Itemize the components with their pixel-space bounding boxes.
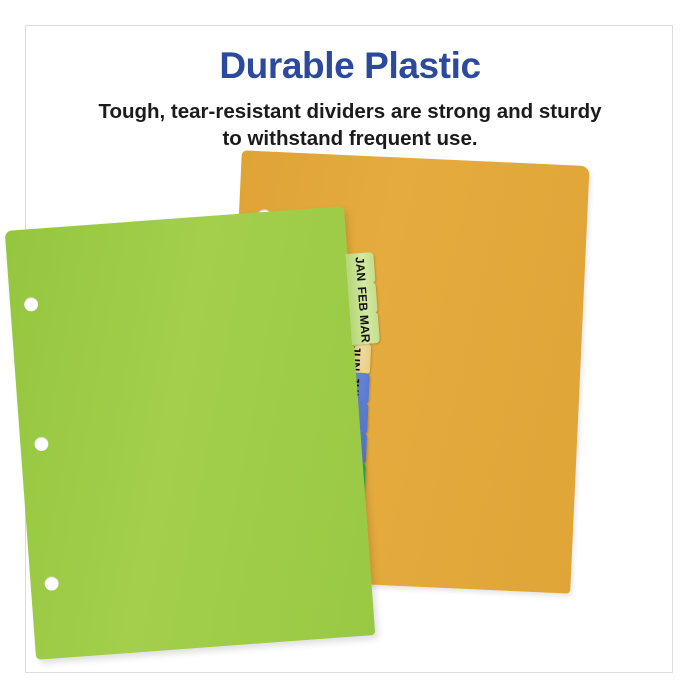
green-divider: JAN FEB MAR [5,206,376,660]
punch-hole [24,297,39,312]
product-feature-card: Durable Plastic Tough, tear-resistant di… [0,0,700,700]
page-subtitle: Tough, tear-resistant dividers are stron… [50,98,650,152]
tab-feb-label: FEB [355,286,371,312]
tab-jan: JAN [345,252,375,285]
page-subtitle-line-1: Tough, tear-resistant dividers are stron… [50,98,650,125]
punch-hole [34,436,49,451]
tab-jan-label: JAN [353,256,369,282]
page-subtitle-line-2: to withstand frequent use. [50,125,650,152]
punch-hole [44,576,59,591]
page-title: Durable Plastic [0,47,700,86]
tab-feb: FEB [348,282,378,315]
tab-mar: MAR [350,312,380,345]
product-photo: APR MAY JUN JUL AUG SEP OCT NOV [0,150,700,670]
tab-mar-label: MAR [357,314,373,343]
